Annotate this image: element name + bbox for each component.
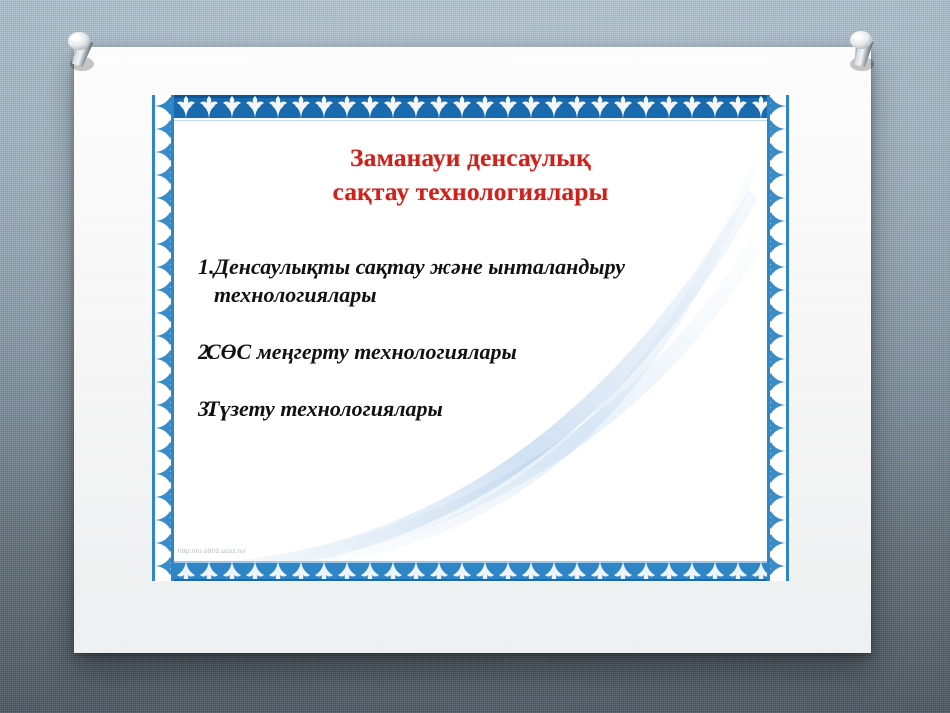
slide-content: Заманауи денсаулық сақтау технологиялары… (180, 125, 761, 551)
list-item-number: 3. (180, 395, 206, 424)
list-item-text: СӨС меңгерту технологиялары (206, 338, 636, 367)
paper-sheet: Заманауи денсаулық сақтау технологиялары… (74, 47, 871, 653)
source-watermark: http://ru.o903.ucoz.ru/ (178, 548, 246, 555)
list-item: 3. Түзету технологиялары (180, 395, 761, 424)
list-item: 2. СӨС меңгерту технологиялары (180, 338, 761, 367)
slide-title: Заманауи денсаулық сақтау технологиялары (180, 141, 761, 209)
list-item-text: Түзету технологиялары (206, 395, 636, 424)
slide-title-line-2: сақтау технологиялары (180, 175, 761, 209)
slide-frame: Заманауи денсаулық сақтау технологиялары… (152, 95, 789, 581)
corkboard-background: Заманауи денсаулық сақтау технологиялары… (0, 0, 950, 713)
technology-list: 1. Денсаулықты сақтау және ынталандыру т… (180, 253, 761, 423)
list-item-number: 1. (180, 253, 214, 282)
list-item-number: 2. (180, 338, 206, 367)
slide-title-line-1: Заманауи денсаулық (180, 141, 761, 175)
list-item: 1. Денсаулықты сақтау және ынталандыру т… (180, 253, 761, 310)
list-item-text: Денсаулықты сақтау және ынталандыру техн… (214, 253, 644, 310)
